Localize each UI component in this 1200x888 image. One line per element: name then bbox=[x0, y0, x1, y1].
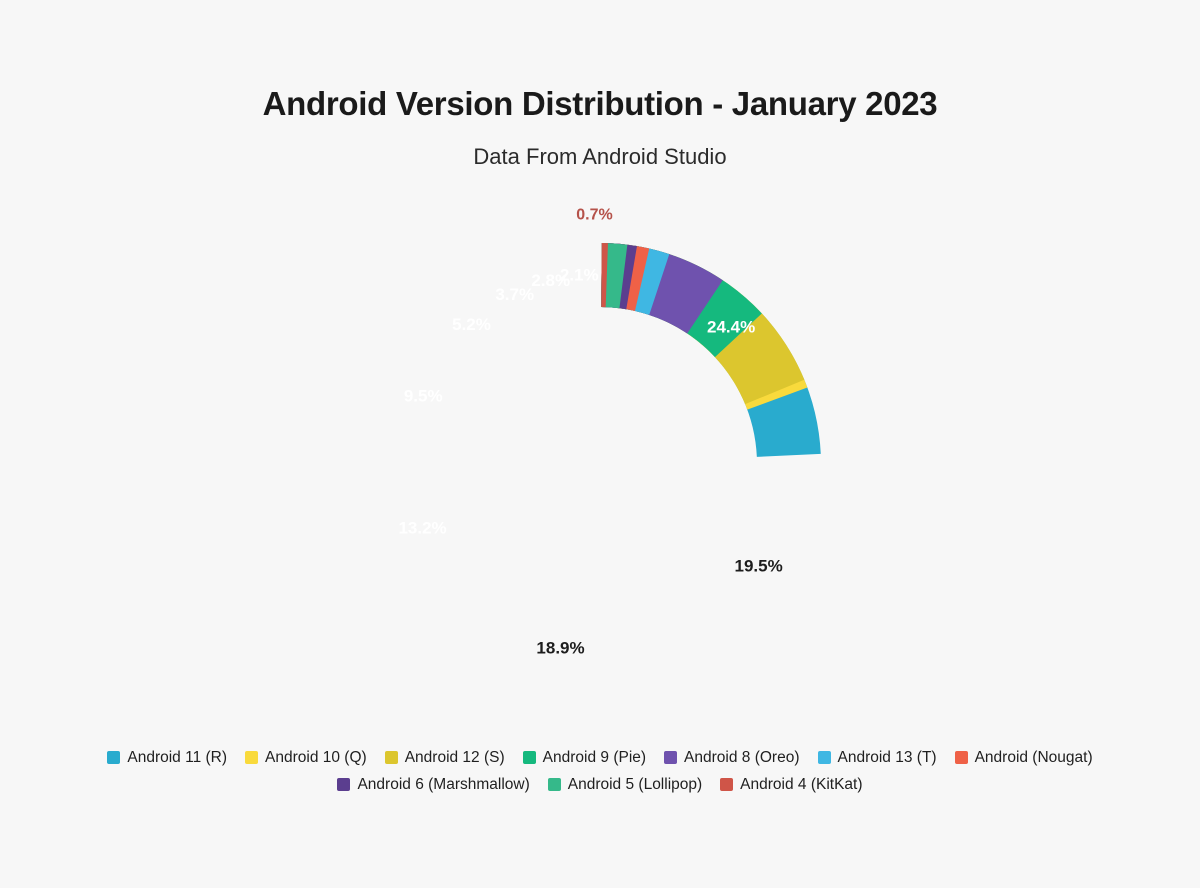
legend-item[interactable]: Android 4 (KitKat) bbox=[720, 771, 862, 798]
slice-percentage-label: 24.4% bbox=[707, 317, 755, 336]
legend-item-label: Android (Nougat) bbox=[975, 749, 1093, 767]
legend-swatch-icon bbox=[818, 751, 831, 764]
legend-item[interactable]: Android 9 (Pie) bbox=[523, 744, 646, 771]
legend-item-label: Android 6 (Marshmallow) bbox=[357, 776, 529, 794]
legend-row-2: Android 6 (Marshmallow)Android 5 (Lollip… bbox=[60, 771, 1140, 798]
legend-swatch-icon bbox=[245, 751, 258, 764]
donut-chart-area: 24.4%19.5%18.9%13.2%9.5%5.2%3.7%2.8%2.1%… bbox=[0, 200, 1200, 720]
chart-subtitle: Data From Android Studio bbox=[0, 144, 1200, 170]
legend-item[interactable]: Android 5 (Lollipop) bbox=[548, 771, 702, 798]
legend-item[interactable]: Android 12 (S) bbox=[385, 744, 505, 771]
slice-percentage-label: 18.9% bbox=[536, 638, 584, 657]
legend-item[interactable]: Android 8 (Oreo) bbox=[664, 744, 799, 771]
legend-item-label: Android 11 (R) bbox=[127, 749, 227, 767]
slice-percentage-label: 5.2% bbox=[452, 315, 491, 334]
legend-swatch-icon bbox=[664, 751, 677, 764]
legend-item[interactable]: Android (Nougat) bbox=[955, 744, 1093, 771]
slice-percentage-label: 13.2% bbox=[398, 519, 446, 538]
chart-card: Android Version Distribution - January 2… bbox=[0, 0, 1200, 888]
legend-swatch-icon bbox=[955, 751, 968, 764]
slice-percentage-label: 19.5% bbox=[735, 556, 783, 575]
legend-swatch-icon bbox=[107, 751, 120, 764]
legend-item-label: Android 4 (KitKat) bbox=[740, 776, 862, 794]
legend-swatch-icon bbox=[720, 778, 733, 791]
legend-item-label: Android 13 (T) bbox=[838, 749, 937, 767]
legend-item-label: Android 12 (S) bbox=[405, 749, 505, 767]
chart-title: Android Version Distribution - January 2… bbox=[0, 84, 1200, 124]
legend-item-label: Android 5 (Lollipop) bbox=[568, 776, 702, 794]
legend-swatch-icon bbox=[523, 751, 536, 764]
chart-legend: Android 11 (R)Android 10 (Q)Android 12 (… bbox=[0, 744, 1200, 798]
legend-row-1: Android 11 (R)Android 10 (Q)Android 12 (… bbox=[60, 744, 1140, 771]
slice-percentage-label: 9.5% bbox=[404, 387, 443, 406]
legend-item-label: Android 10 (Q) bbox=[265, 749, 367, 767]
slice-percentage-label: 3.7% bbox=[495, 285, 534, 304]
legend-item-label: Android 8 (Oreo) bbox=[684, 749, 799, 767]
legend-item-label: Android 9 (Pie) bbox=[543, 749, 646, 767]
donut-chart[interactable]: 24.4%19.5%18.9%13.2%9.5%5.2%3.7%2.8%2.1%… bbox=[0, 200, 1200, 720]
chart-header: Android Version Distribution - January 2… bbox=[0, 84, 1200, 170]
slice-percentage-label: 2.1% bbox=[560, 266, 599, 285]
slice-percentage-label: 0.7% bbox=[576, 206, 612, 223]
legend-item[interactable]: Android 11 (R) bbox=[107, 744, 227, 771]
legend-swatch-icon bbox=[337, 778, 350, 791]
legend-item[interactable]: Android 10 (Q) bbox=[245, 744, 367, 771]
legend-swatch-icon bbox=[548, 778, 561, 791]
legend-swatch-icon bbox=[385, 751, 398, 764]
legend-item[interactable]: Android 6 (Marshmallow) bbox=[337, 771, 529, 798]
legend-item[interactable]: Android 13 (T) bbox=[818, 744, 937, 771]
